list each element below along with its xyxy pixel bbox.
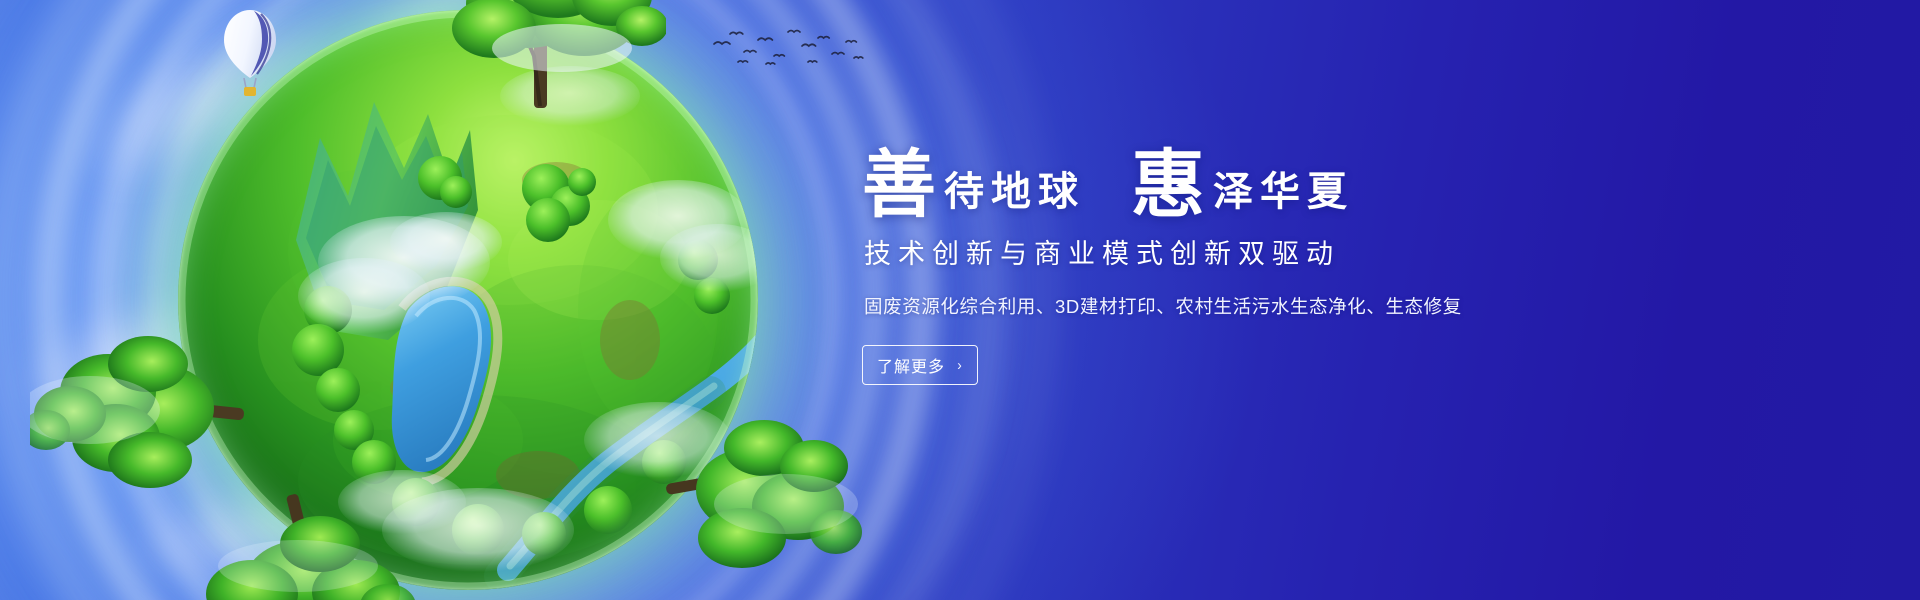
chevron-right-icon: › [957,357,962,374]
hero-text-block: 善 待地球 惠 泽华夏 技术创新与商业模式创新双驱动 固废资源化综合利用、3D建… [862,120,1502,385]
tree-left-icon [30,310,260,510]
hot-air-balloon-icon [220,8,280,100]
headline-text-zehuaxia: 泽华夏 [1205,172,1354,212]
hero-description: 固废资源化综合利用、3D建材打印、农村生活污水生态净化、生态修复 [864,293,1502,319]
tiny-planet-earth [148,0,788,600]
bird-flock-icon [708,22,868,72]
hero-banner: 善 待地球 惠 泽华夏 技术创新与商业模式创新双驱动 固废资源化综合利用、3D建… [0,0,1920,600]
tree-bottom-left-icon [188,488,418,600]
headline-text-daidiqiu: 待地球 [936,172,1085,212]
learn-more-button[interactable]: 了解更多 › [862,345,978,385]
tree-right-icon [656,410,866,590]
hero-headline: 善 待地球 惠 泽华夏 [862,120,1502,216]
headline-char-shan: 善 [862,148,936,222]
learn-more-label: 了解更多 [877,353,945,377]
hero-subtitle: 技术创新与商业模式创新双驱动 [864,232,1502,271]
tree-top-icon [416,0,666,108]
headline-char-hui: 惠 [1131,148,1205,222]
